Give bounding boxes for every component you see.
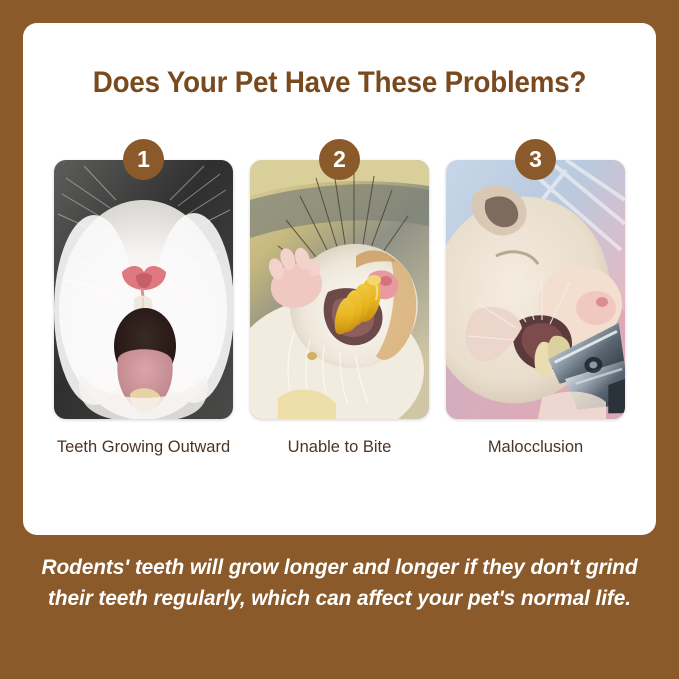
problem-item-3: 3 — [446, 139, 625, 457]
page-title: Does Your Pet Have These Problems? — [42, 66, 637, 100]
problem-columns: 1 — [54, 139, 625, 457]
step-number-badge-3: 3 — [515, 139, 556, 180]
hamster-teeth-clipping-photo — [446, 160, 625, 419]
infographic-root: Does Your Pet Have These Problems? 1 — [0, 0, 679, 679]
problem-caption-2: Unable to Bite — [247, 438, 432, 457]
problem-caption-1: Teeth Growing Outward — [51, 438, 236, 457]
step-number-badge-2: 2 — [319, 139, 360, 180]
content-card: Does Your Pet Have These Problems? 1 — [23, 23, 656, 535]
problem-caption-3: Malocclusion — [443, 438, 628, 457]
problem-item-2: 2 — [250, 139, 429, 457]
step-number-badge-1: 1 — [123, 139, 164, 180]
white-rabbit-open-mouth-photo — [54, 160, 233, 419]
problem-item-1: 1 — [54, 139, 233, 457]
footer-note: Rodents' teeth will grow longer and long… — [10, 552, 669, 613]
hamster-overgrown-incisors-photo — [250, 160, 429, 419]
